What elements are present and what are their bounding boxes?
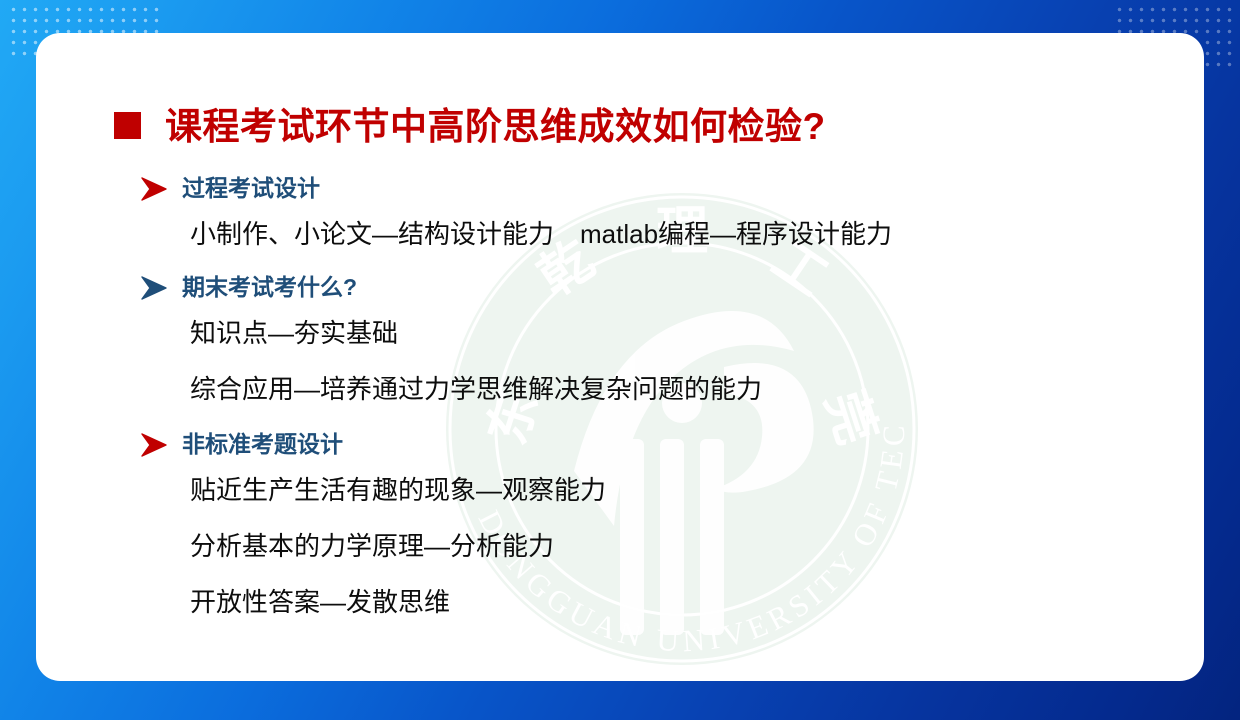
content-line: 分析基本的力学原理—分析能力 <box>190 518 1180 574</box>
content-line: 综合应用—培养通过力学思维解决复杂问题的能力 <box>190 361 1180 417</box>
group-heading-row-3: 非标准考题设计 <box>140 429 1180 460</box>
page-title: 课程考试环节中高阶思维成效如何检验? <box>165 96 826 150</box>
content-line: 知识点—夯实基础 <box>190 305 1180 361</box>
arrow-bullet-red-icon <box>140 176 168 202</box>
list-group-1: 过程考试设计 小制作、小论文—结构设计能力 matlab编程—程序设计能力 <box>140 173 1180 262</box>
group-heading-1: 过程考试设计 <box>182 173 320 204</box>
content-line: 开放性答案—发散思维 <box>190 574 1180 630</box>
group-heading-2: 期末考试考什么? <box>182 272 357 303</box>
content-line: 贴近生产生活有趣的现象—观察能力 <box>190 462 1180 518</box>
group-heading-3: 非标准考题设计 <box>182 429 343 460</box>
group-heading-row-2: 期末考试考什么? <box>140 272 1180 303</box>
arrow-bullet-navy-icon <box>140 275 168 301</box>
slide-root: 乾 理 工 东 莞 DONGGUAN UNIVERSITY OF TECHNOL… <box>0 0 1240 720</box>
content-line: 小制作、小论文—结构设计能力 matlab编程—程序设计能力 <box>190 206 1180 262</box>
list-group-3: 非标准考题设计 贴近生产生活有趣的现象—观察能力 分析基本的力学原理—分析能力 … <box>140 429 1180 630</box>
arrow-bullet-red-icon <box>140 432 168 458</box>
content-card: 乾 理 工 东 莞 DONGGUAN UNIVERSITY OF TECHNOL… <box>36 33 1204 681</box>
square-bullet-icon <box>114 112 141 139</box>
list-group-2: 期末考试考什么? 知识点—夯实基础 综合应用—培养通过力学思维解决复杂问题的能力 <box>140 272 1180 417</box>
content-list: 过程考试设计 小制作、小论文—结构设计能力 matlab编程—程序设计能力 期末… <box>140 173 1180 630</box>
slide-title-row: 课程考试环节中高阶思维成效如何检验? <box>114 96 826 150</box>
group-heading-row-1: 过程考试设计 <box>140 173 1180 204</box>
